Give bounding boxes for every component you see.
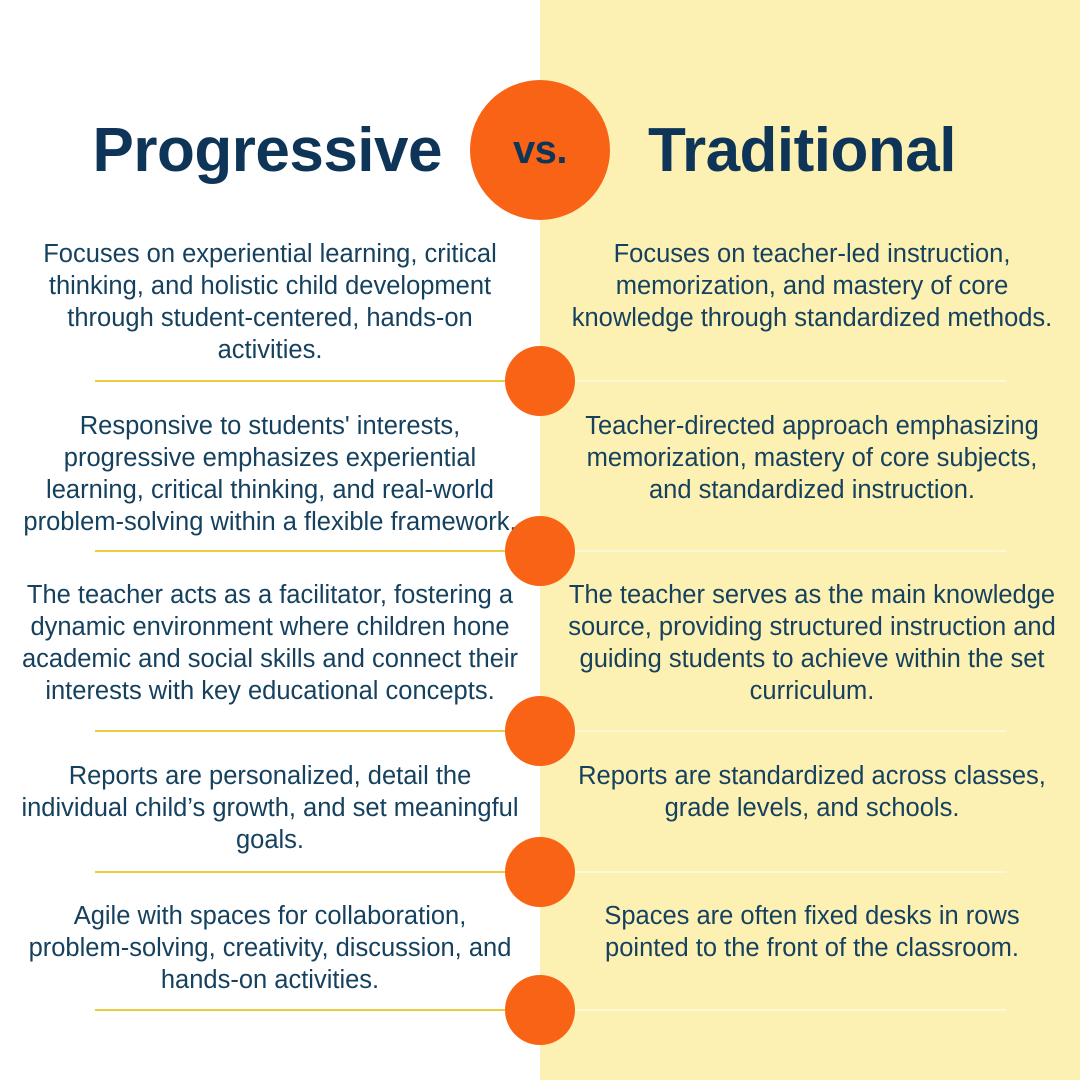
- comparison-cell-traditional-4: Reports are standardized across classes,…: [562, 760, 1062, 824]
- comparison-cell-traditional-3: The teacher serves as the main knowledge…: [562, 579, 1062, 707]
- divider-circle-icon-3: [505, 696, 575, 766]
- comparison-cell-traditional-1: Focuses on teacher-led instruction, memo…: [562, 238, 1062, 334]
- vs-badge-label: vs.: [470, 80, 610, 220]
- comparison-cell-progressive-3: The teacher acts as a facilitator, foste…: [20, 579, 520, 707]
- comparison-cell-traditional-5: Spaces are often fixed desks in rows poi…: [562, 900, 1062, 964]
- divider-line-left-1: [95, 380, 507, 382]
- comparison-row-3: The teacher acts as a facilitator, foste…: [0, 579, 1080, 709]
- divider-line-left-5: [95, 1009, 507, 1011]
- divider-line-right-2: [574, 550, 1006, 552]
- divider-line-right-4: [574, 871, 1006, 873]
- page-title-traditional: Traditional: [620, 104, 1080, 198]
- row-divider-5: [0, 975, 1080, 1045]
- comparison-cell-traditional-2: Teacher-directed approach emphasizing me…: [562, 410, 1062, 506]
- divider-circle-icon-1: [505, 346, 575, 416]
- vs-badge-circle: vs.: [470, 80, 610, 220]
- divider-line-right-1: [574, 380, 1006, 382]
- divider-line-left-2: [95, 550, 507, 552]
- row-divider-3: [0, 696, 1080, 766]
- divider-circle-icon-2: [505, 516, 575, 586]
- divider-line-left-3: [95, 730, 507, 732]
- divider-circle-icon-5: [505, 975, 575, 1045]
- row-divider-4: [0, 837, 1080, 907]
- divider-circle-icon-4: [505, 837, 575, 907]
- comparison-infographic: Progressive Traditional vs. Focuses on e…: [0, 0, 1080, 1080]
- row-divider-1: [0, 346, 1080, 416]
- divider-line-left-4: [95, 871, 507, 873]
- divider-line-right-5: [574, 1009, 1006, 1011]
- divider-line-right-3: [574, 730, 1006, 732]
- row-divider-2: [0, 516, 1080, 586]
- page-title-progressive: Progressive: [0, 104, 460, 198]
